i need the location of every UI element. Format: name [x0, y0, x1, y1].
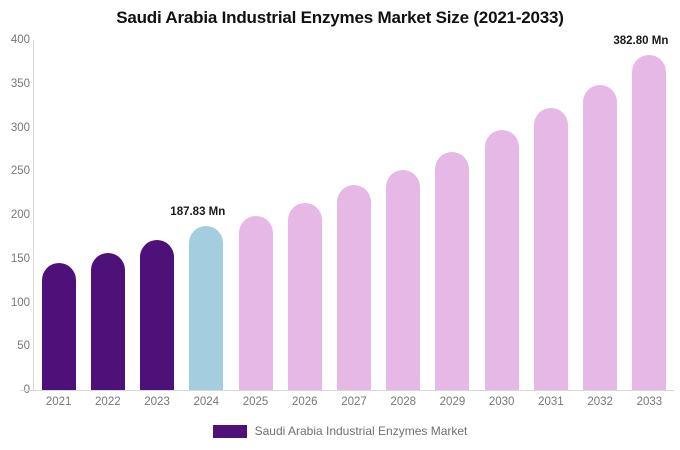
x-axis-tick: 2031 — [526, 396, 575, 408]
bar-slot — [379, 170, 428, 391]
bar-2029[interactable] — [435, 152, 469, 390]
x-axis-line — [20, 390, 674, 391]
x-axis-tick: 2028 — [379, 396, 428, 408]
y-axis-tick: 50 — [0, 340, 30, 352]
bar-2031[interactable] — [534, 108, 568, 390]
x-axis-tick: 2027 — [329, 396, 378, 408]
value-label-2033: 382.80 Mn — [613, 35, 668, 47]
chart-container: Saudi Arabia Industrial Enzymes Market S… — [0, 0, 680, 450]
bar-column[interactable] — [83, 40, 132, 390]
bar-column[interactable] — [428, 40, 477, 390]
bar-2025[interactable] — [239, 216, 273, 390]
bar-slot — [329, 185, 378, 390]
bar-slot — [526, 108, 575, 390]
y-axis-tick: 150 — [0, 253, 30, 265]
bar-column[interactable] — [280, 40, 329, 390]
y-axis-tick: 300 — [0, 122, 30, 134]
bar-2026[interactable] — [288, 203, 322, 390]
bar-column[interactable] — [576, 40, 625, 390]
bar-2022[interactable] — [91, 253, 125, 390]
legend-label: Saudi Arabia Industrial Enzymes Market — [255, 424, 468, 438]
bar-slot — [428, 152, 477, 390]
x-axis-tick: 2023 — [132, 396, 181, 408]
bar-column[interactable] — [34, 40, 83, 390]
bar-2032[interactable] — [583, 85, 617, 390]
y-axis-tick: 200 — [0, 209, 30, 221]
x-axis-tick: 2029 — [428, 396, 477, 408]
bar-2021[interactable] — [42, 263, 76, 390]
bar-2027[interactable] — [337, 185, 371, 390]
bar-slot — [34, 263, 83, 390]
bar-2033[interactable] — [632, 55, 666, 390]
bar-column[interactable] — [329, 40, 378, 390]
bar-2030[interactable] — [485, 130, 519, 390]
bar-2023[interactable] — [140, 240, 174, 390]
bar-slot — [576, 85, 625, 390]
y-axis-tick: 400 — [0, 34, 30, 46]
y-axis-tick: 350 — [0, 78, 30, 90]
x-axis-tick: 2026 — [280, 396, 329, 408]
y-axis-tick: 250 — [0, 165, 30, 177]
chart-title: Saudi Arabia Industrial Enzymes Market S… — [0, 8, 680, 28]
bar-slot — [280, 203, 329, 390]
bar-2028[interactable] — [386, 170, 420, 391]
bar-slot — [182, 226, 231, 390]
bar-column[interactable] — [625, 40, 674, 390]
bar-column[interactable] — [526, 40, 575, 390]
value-label-2024: 187.83 Mn — [170, 206, 225, 218]
x-axis-tick: 2032 — [576, 396, 625, 408]
bar-slot — [625, 55, 674, 390]
x-axis-tick: 2022 — [83, 396, 132, 408]
legend-swatch — [213, 425, 247, 438]
bar-column[interactable] — [231, 40, 280, 390]
bar-slot — [83, 253, 132, 390]
bar-column[interactable] — [379, 40, 428, 390]
bar-column[interactable] — [477, 40, 526, 390]
bar-slot — [477, 130, 526, 390]
x-axis-tick: 2033 — [625, 396, 674, 408]
x-axis-tick: 2025 — [231, 396, 280, 408]
legend: Saudi Arabia Industrial Enzymes Market — [0, 424, 680, 438]
x-axis-tick: 2030 — [477, 396, 526, 408]
y-axis: 050100150200250300350400 — [0, 0, 30, 450]
bar-slot — [132, 240, 181, 390]
x-axis-tick: 2024 — [182, 396, 231, 408]
y-axis-tick: 100 — [0, 297, 30, 309]
x-axis-tick: 2021 — [34, 396, 83, 408]
bar-2024[interactable] — [189, 226, 223, 390]
bar-slot — [231, 216, 280, 390]
